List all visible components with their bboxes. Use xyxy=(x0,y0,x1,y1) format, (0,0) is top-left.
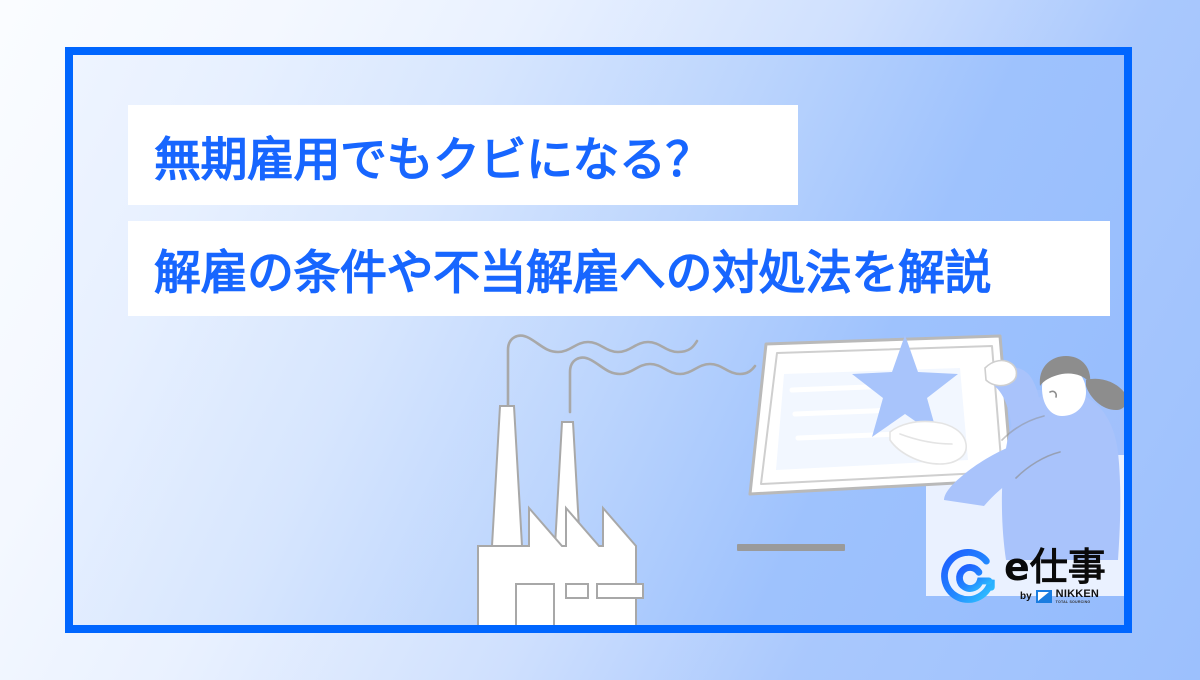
brand-logo[interactable]: e仕事 by NIKKEN TOTAL SOURCING xyxy=(938,543,1123,613)
logo-partner-row: by NIKKEN TOTAL SOURCING xyxy=(1020,589,1099,605)
logo-by-label: by xyxy=(1020,591,1032,602)
nikken-mark-icon xyxy=(1036,590,1052,603)
hero-banner: 無期雇用でもクビになる？ 解雇の条件や不当解雇への対処法を解説 e仕事 by N… xyxy=(0,0,1200,680)
nikken-text-block: NIKKEN TOTAL SOURCING xyxy=(1056,589,1099,605)
nikken-tagline: TOTAL SOURCING xyxy=(1056,601,1099,605)
logo-wordmark: e仕事 xyxy=(1004,545,1106,589)
nikken-name: NIKKEN xyxy=(1056,589,1099,600)
e-shigoto-circle-mark xyxy=(938,545,1000,607)
